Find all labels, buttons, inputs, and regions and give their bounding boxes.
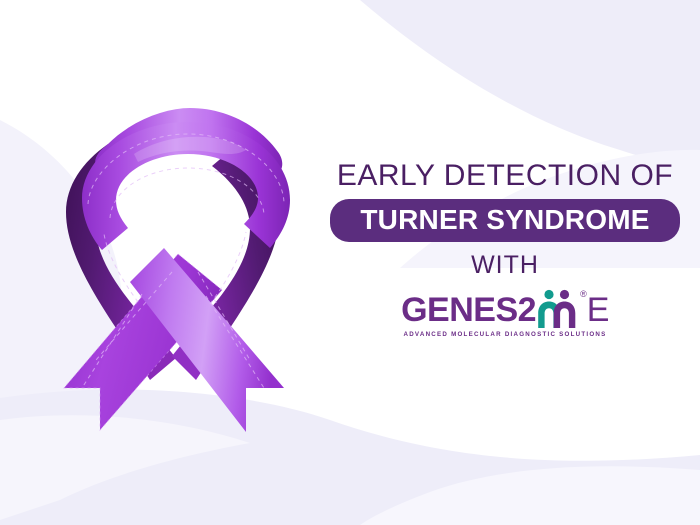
- brand-name-part2: E: [587, 293, 609, 327]
- headline-line-1: EARLY DETECTION OF: [330, 160, 680, 192]
- brand-name-part1: GENES: [401, 293, 518, 327]
- highlight-banner: TURNER SYNDROME: [330, 199, 680, 243]
- brand-tagline: ADVANCED MOLECULAR DIAGNOSTIC SOLUTIONS: [404, 331, 607, 338]
- brand-logo: GENES 2 ® E ADVANCED MOLECULAR DIAGNOSTI…: [330, 287, 680, 338]
- headline-block: EARLY DETECTION OF TURNER SYNDROME WITH …: [330, 160, 680, 338]
- brand-logo-row: GENES 2 ® E: [401, 287, 609, 327]
- registered-trademark-icon: ®: [580, 289, 587, 299]
- two-people-m-icon: [535, 287, 581, 329]
- awareness-ribbon-icon: [38, 58, 308, 438]
- connector-word: WITH: [330, 252, 680, 278]
- poster-canvas: EARLY DETECTION OF TURNER SYNDROME WITH …: [0, 0, 700, 525]
- banner-title: TURNER SYNDROME: [344, 205, 666, 236]
- brand-name-digit: 2: [518, 293, 536, 327]
